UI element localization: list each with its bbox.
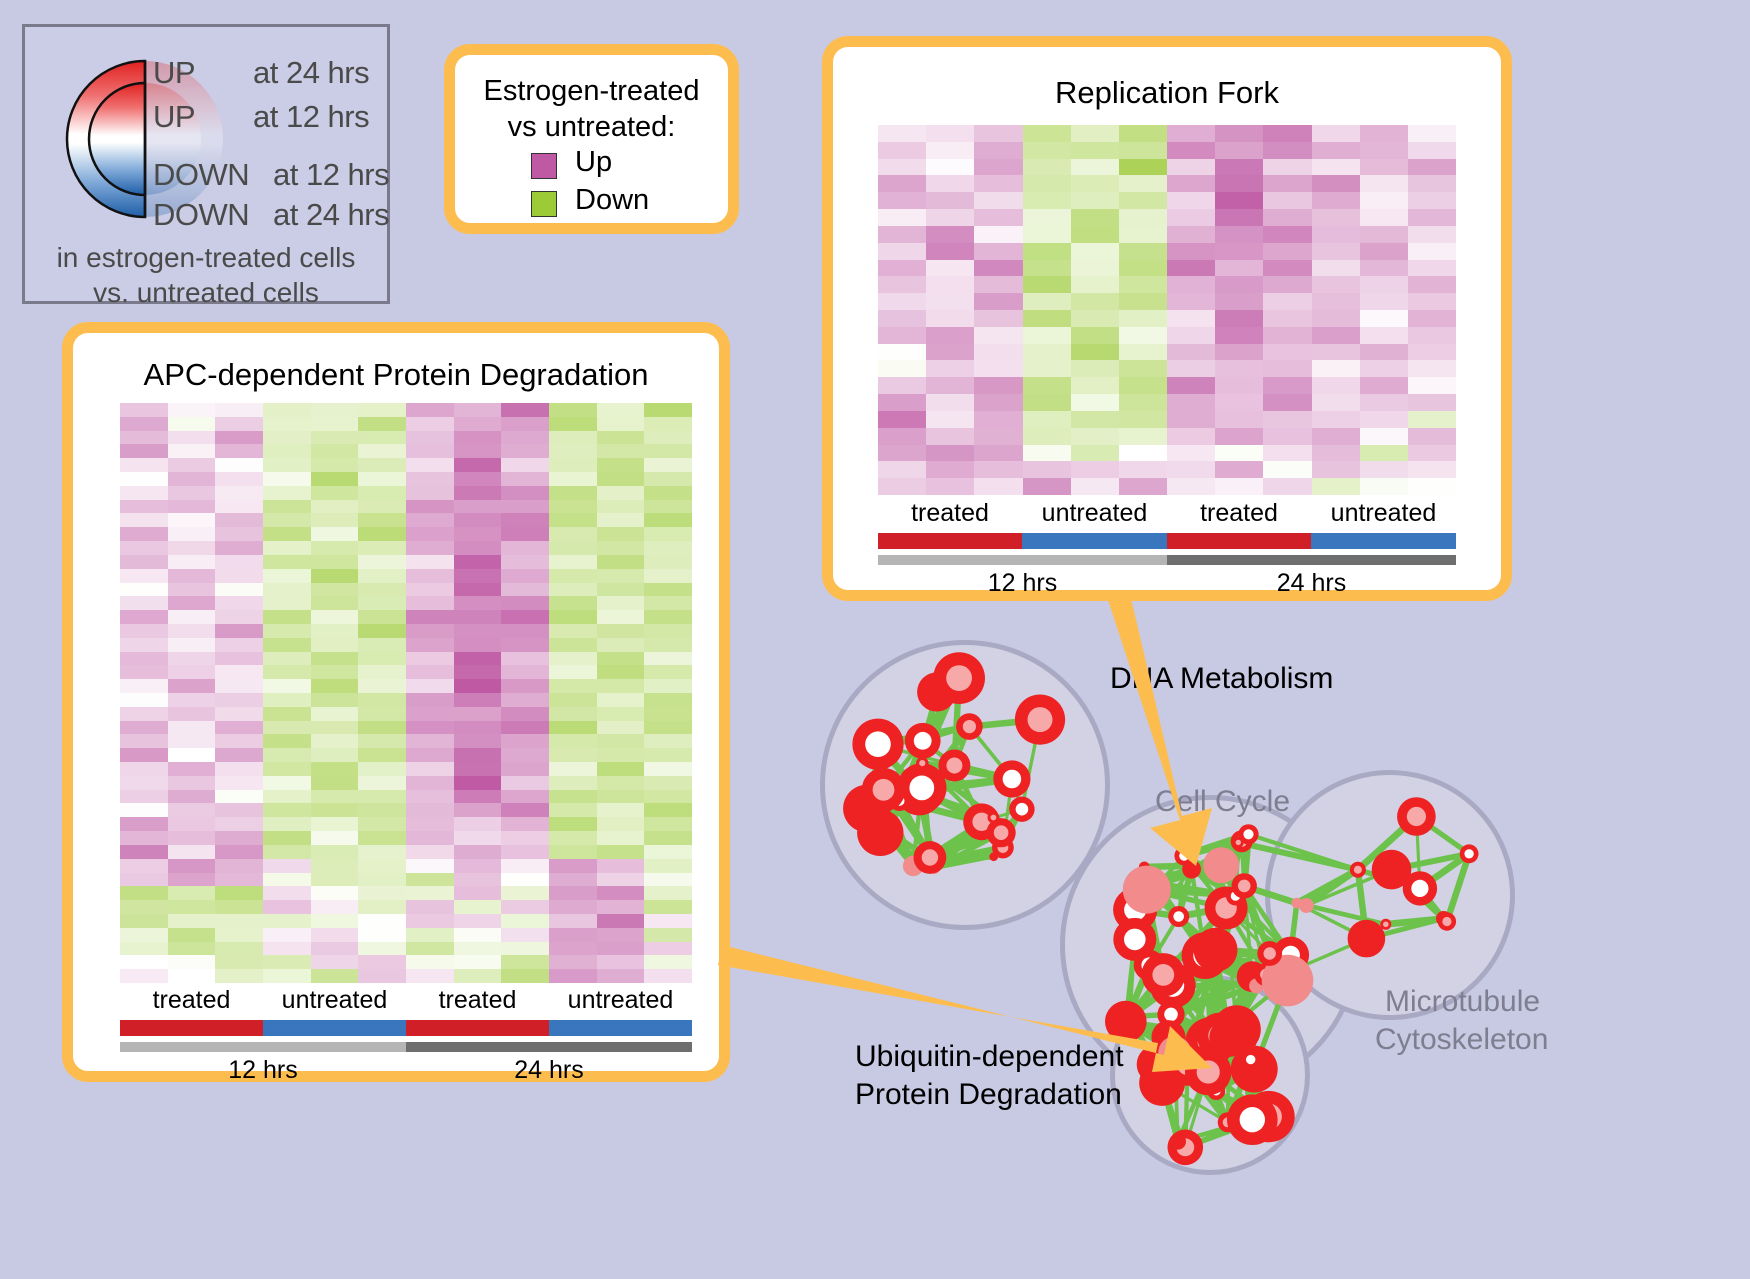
panel-connector-arrows <box>0 0 1750 1279</box>
arrow-replication-fork <box>1108 594 1212 866</box>
arrow-apc-degradation <box>718 945 1212 1072</box>
